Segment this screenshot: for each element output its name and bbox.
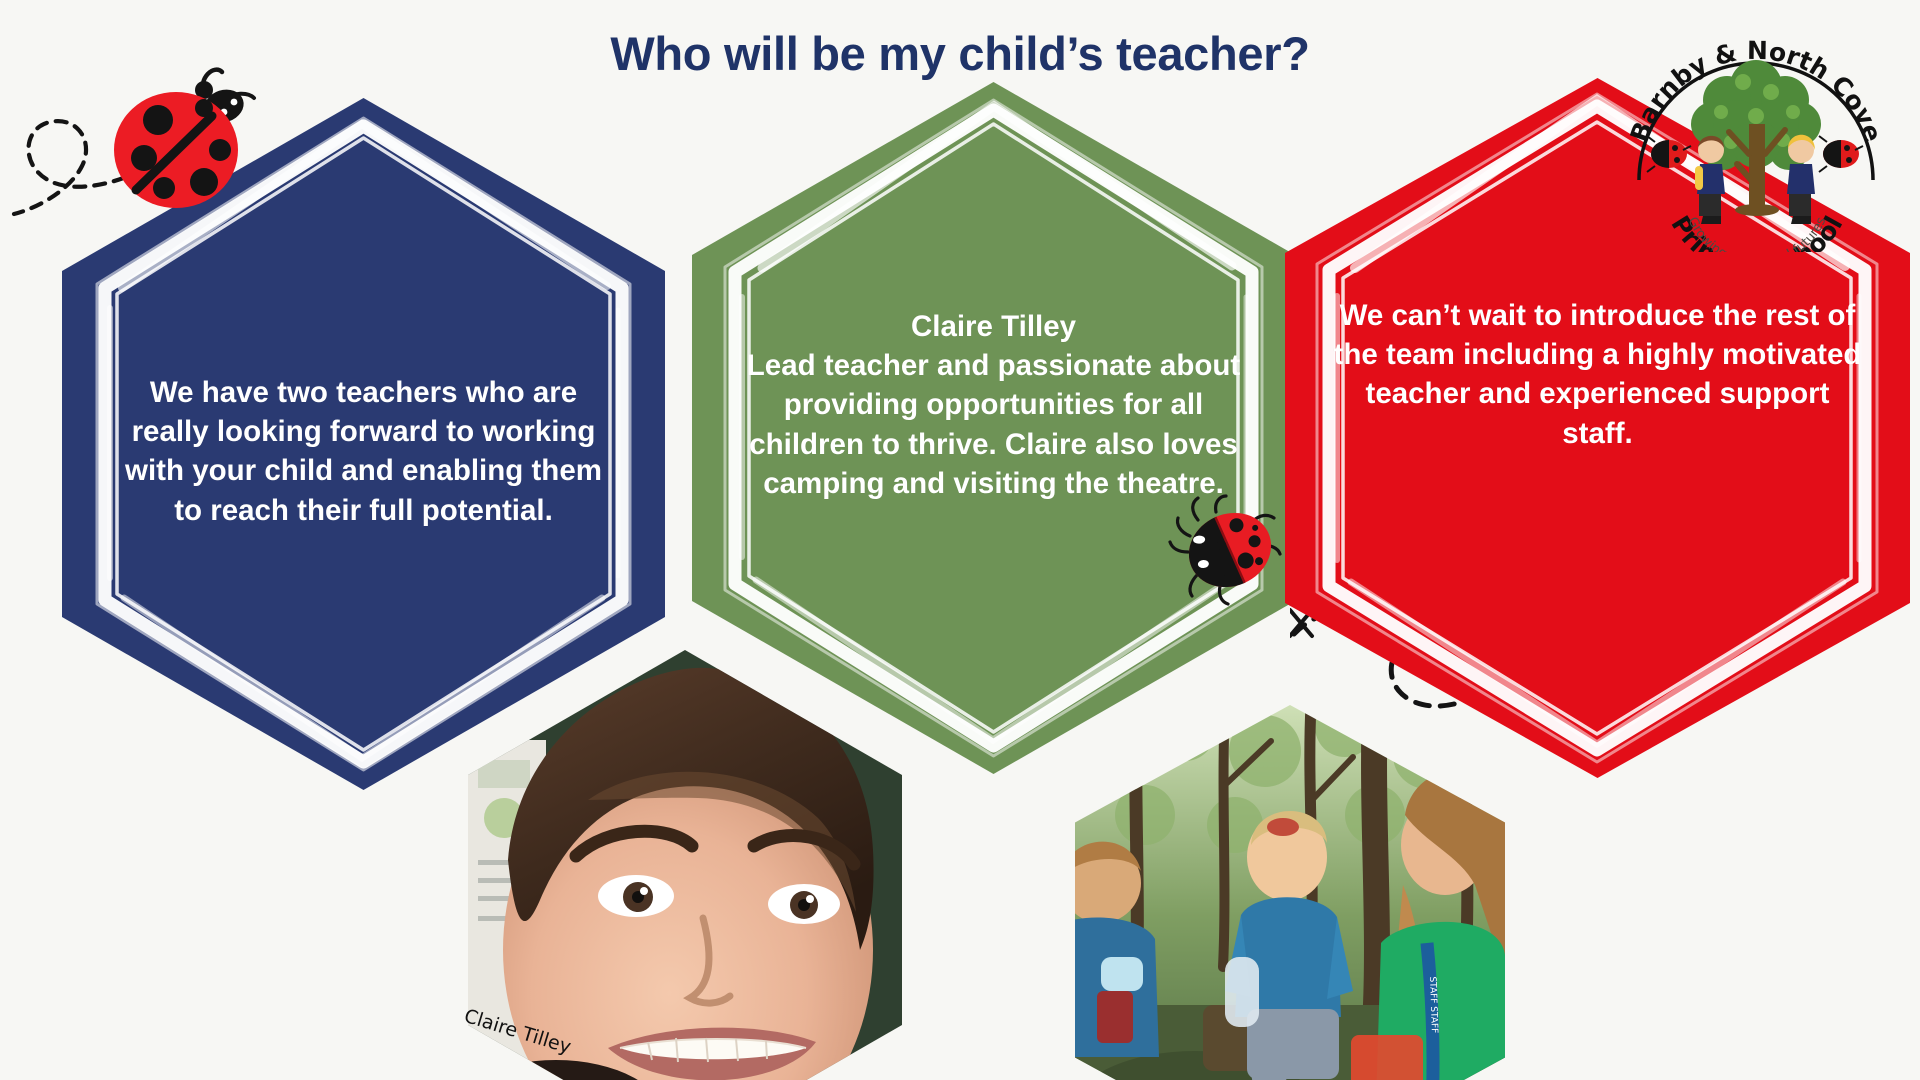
slide-canvas: Who will be my child’s teacher? We have … [0,0,1920,1080]
logo-ladybird-left [1647,136,1691,172]
hexagon-red-text: We can’t wait to introduce the rest of t… [1329,296,1867,453]
hexagon-green-text: Claire Tilley Lead teacher and passionat… [734,307,1253,503]
hexagon-card-green: Claire Tilley Lead teacher and passionat… [692,82,1295,774]
logo-child-left [1695,136,1725,224]
hexagon-blue-text: We have two teachers who are really look… [116,373,610,530]
logo-ladybird-right [1819,136,1863,172]
ladybird-top-left [8,42,258,232]
logo-child-right [1787,135,1815,224]
ladybird-body-top-left [114,70,254,208]
school-logo: Barnby & North Cove Primary School Growi… [1625,4,1887,252]
svg-text:STAFF STAFF: STAFF STAFF [1427,976,1439,1033]
ladybird-middle [1168,490,1298,610]
